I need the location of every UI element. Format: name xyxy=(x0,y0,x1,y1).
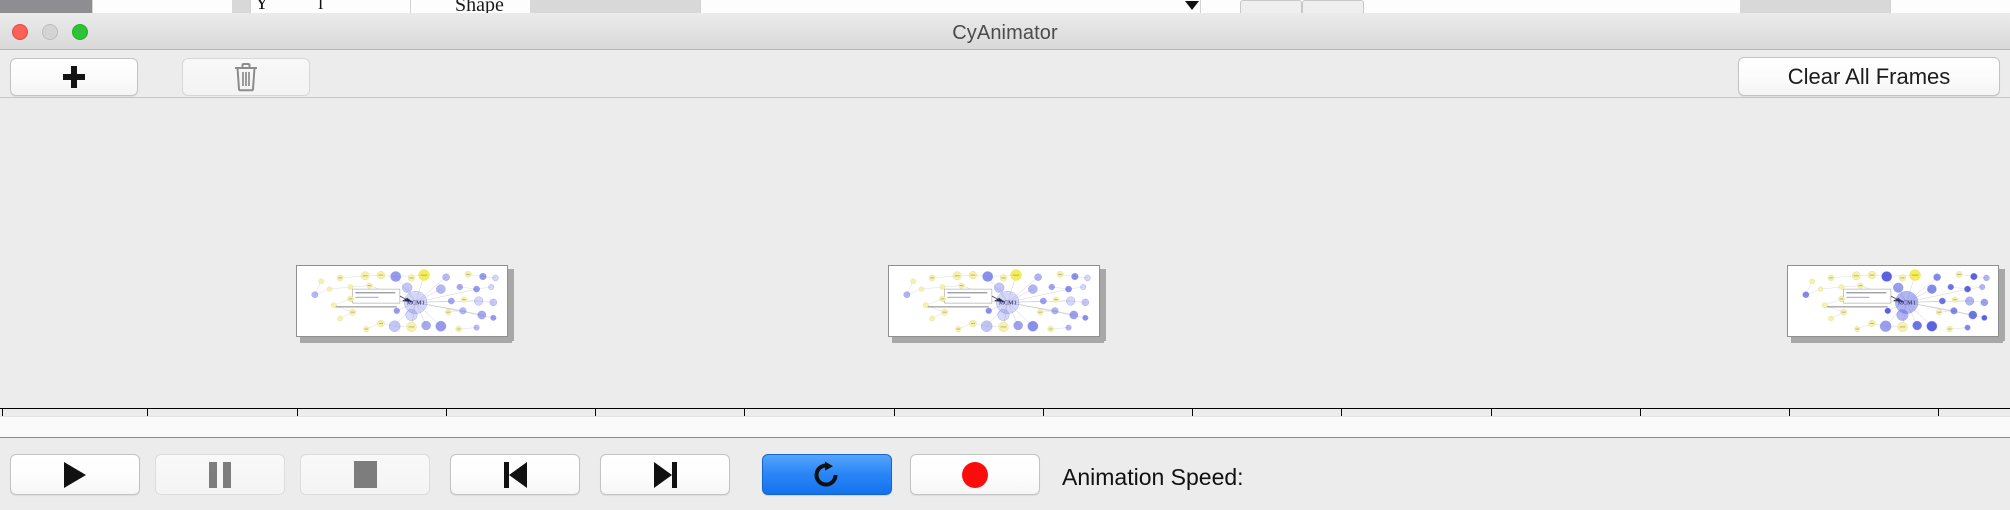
timeline-tick xyxy=(1938,409,1939,416)
timeline-scrollbar-track[interactable] xyxy=(0,416,2010,438)
frame-thumbnail-image: MCM1 xyxy=(888,265,1100,337)
svg-text:MCM1: MCM1 xyxy=(407,301,425,307)
record-button[interactable] xyxy=(910,454,1040,495)
timeline-tick xyxy=(446,409,447,416)
svg-text:MCM1: MCM1 xyxy=(999,301,1017,307)
frame-shadow xyxy=(1100,269,1106,341)
clear-all-frames-button[interactable]: Clear All Frames xyxy=(1738,57,2000,96)
network-graph: MCM1 xyxy=(889,266,1099,336)
pause-button[interactable] xyxy=(155,454,285,495)
pause-icon xyxy=(209,462,231,488)
timeline-tick xyxy=(297,409,298,416)
play-button[interactable] xyxy=(10,454,140,495)
trash-icon xyxy=(233,62,259,92)
record-icon xyxy=(962,462,988,488)
frame-thumbnail-3[interactable]: MCM1 xyxy=(1787,265,1999,337)
timeline-tick xyxy=(1192,409,1193,416)
frame-shadow xyxy=(508,269,514,341)
timeline-tick xyxy=(1640,409,1641,416)
background-window-strip: Y l Shape xyxy=(0,0,2010,13)
stop-icon xyxy=(354,461,377,488)
skip-to-end-button[interactable] xyxy=(600,454,730,495)
frame-thumbnail-1[interactable]: MCM1 xyxy=(296,265,508,337)
timeline-tick xyxy=(1341,409,1342,416)
frame-shadow xyxy=(1999,269,2005,341)
timeline-tick xyxy=(595,409,596,416)
skip-start-icon xyxy=(504,462,527,488)
background-shape-label: Shape xyxy=(455,0,504,13)
toolbar: Clear All Frames xyxy=(0,50,2010,98)
add-frame-button[interactable] xyxy=(10,58,138,96)
cyanimator-window: Y l Shape CyAnimator Clear All Frames MC… xyxy=(0,0,2010,510)
timeline-tick xyxy=(894,409,895,416)
timeline-tick xyxy=(744,409,745,416)
skip-to-start-button[interactable] xyxy=(450,454,580,495)
window-title: CyAnimator xyxy=(0,22,2010,45)
title-bar: CyAnimator xyxy=(0,13,2010,50)
frame-shadow xyxy=(300,337,512,343)
timeline-tick xyxy=(2,409,3,416)
frame-thumbnail-image: MCM1 xyxy=(296,265,508,337)
transport-bar: Animation Speed: xyxy=(0,439,2010,510)
frame-thumbnail-2[interactable]: MCM1 xyxy=(888,265,1100,337)
frame-thumbnail-image: MCM1 xyxy=(1787,265,1999,337)
play-icon xyxy=(64,462,86,488)
delete-frame-button[interactable] xyxy=(182,58,310,96)
timeline-tick xyxy=(147,409,148,416)
frame-shadow xyxy=(892,337,1104,343)
skip-end-icon xyxy=(654,462,677,488)
stop-button[interactable] xyxy=(300,454,430,495)
timeline-tick xyxy=(1491,409,1492,416)
timeline-axis-line xyxy=(0,408,2010,409)
loop-button[interactable] xyxy=(762,454,892,495)
network-graph: MCM1 xyxy=(297,266,507,336)
frame-shadow xyxy=(1791,337,2003,343)
timeline-tick xyxy=(1043,409,1044,416)
network-graph: MCM1 xyxy=(1788,266,1998,336)
plus-icon xyxy=(63,66,85,88)
animation-speed-label: Animation Speed: xyxy=(1062,464,1244,491)
loop-icon xyxy=(813,460,841,490)
timeline-pane[interactable]: MCM1MCM1MCM1 2131415161718 Seconds xyxy=(0,98,2010,416)
timeline-tick xyxy=(1789,409,1790,416)
svg-text:MCM1: MCM1 xyxy=(1898,301,1916,307)
